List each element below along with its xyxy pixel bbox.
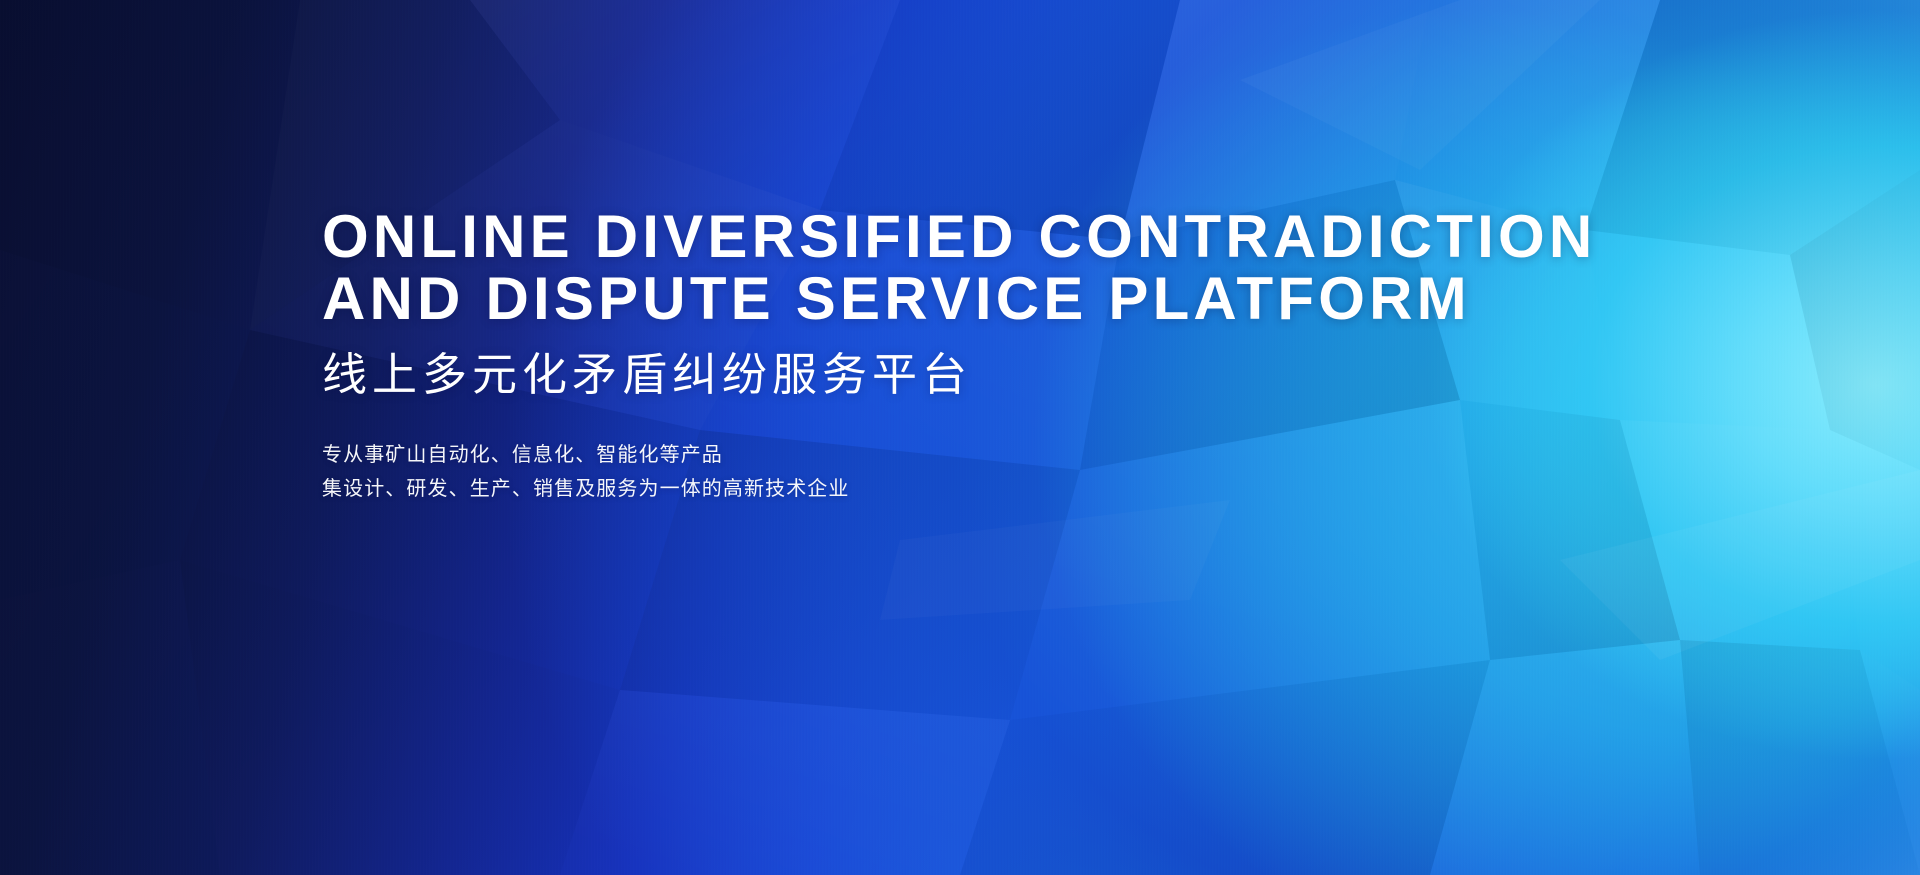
hero-copy: ONLINE DIVERSIFIED CONTRADICTION AND DIS… [322,206,1662,506]
page-title-english: ONLINE DIVERSIFIED CONTRADICTION AND DIS… [322,206,1662,330]
hero-banner: ONLINE DIVERSIFIED CONTRADICTION AND DIS… [0,0,1920,875]
subtitle-line-2: 集设计、研发、生产、销售及服务为一体的高新技术企业 [322,472,1662,506]
subtitle-block: 专从事矿山自动化、信息化、智能化等产品 集设计、研发、生产、销售及服务为一体的高… [322,438,1662,506]
subtitle-line-1: 专从事矿山自动化、信息化、智能化等产品 [322,438,1662,472]
page-title-chinese: 线上多元化矛盾纠纷服务平台 [322,350,1662,400]
